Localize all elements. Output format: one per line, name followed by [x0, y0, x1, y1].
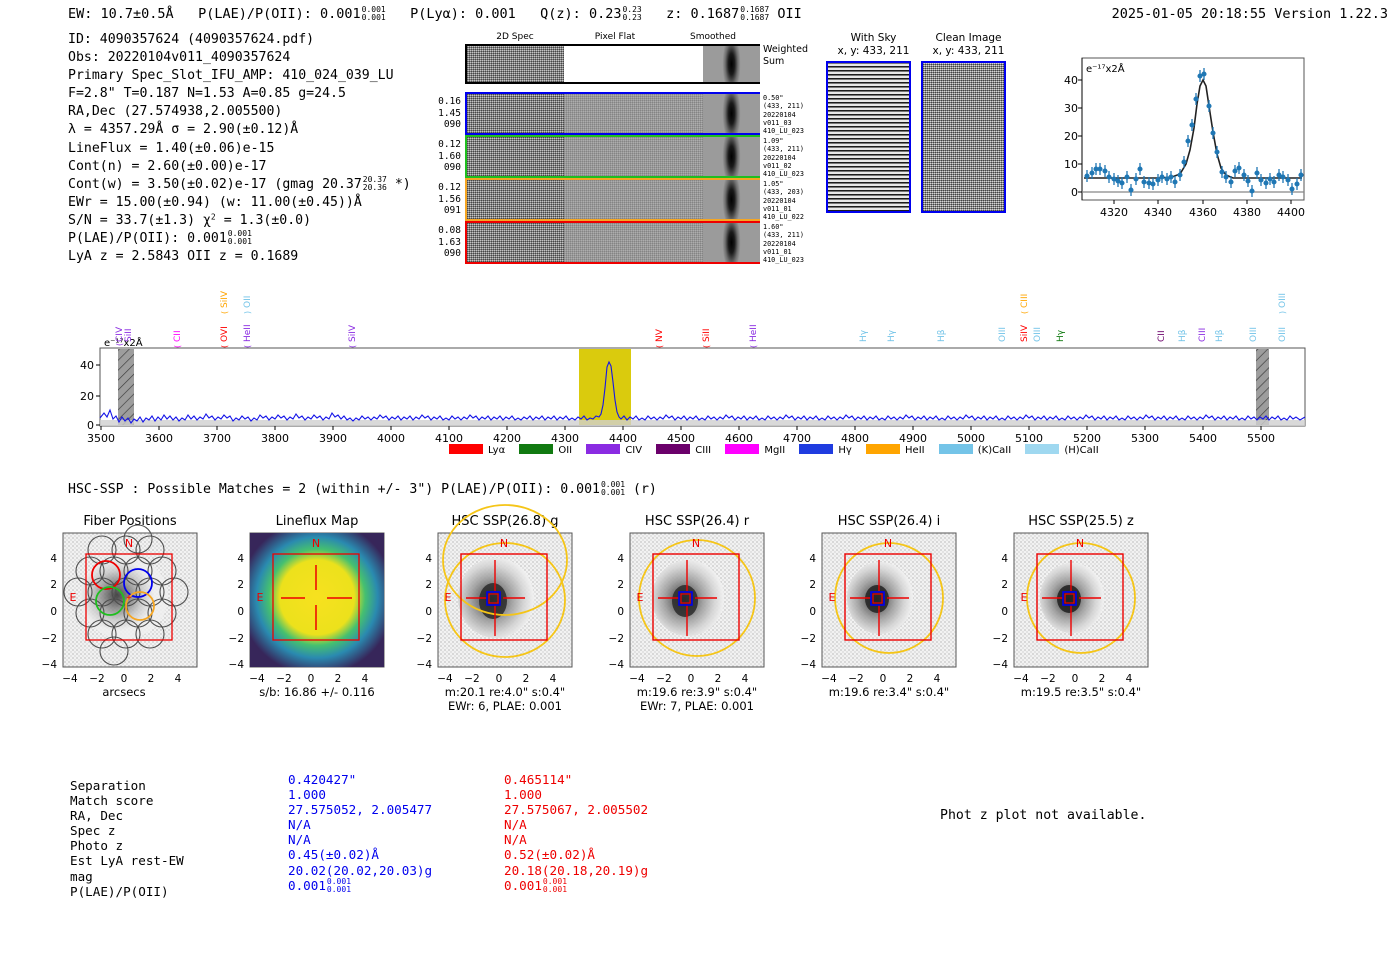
svg-text:E: E — [1021, 591, 1028, 604]
svg-text:m:19.6 re:3.4" s:0.4": m:19.6 re:3.4" s:0.4" — [829, 685, 949, 699]
svg-text:−2: −2 — [1040, 673, 1055, 685]
fiber-2dspec-image — [467, 94, 564, 133]
svg-text:E: E — [70, 591, 77, 604]
info-radec: RA,Dec (27.574938,2.005500) — [68, 103, 411, 121]
fiber-pixelflat-image — [564, 94, 703, 133]
svg-text:N: N — [500, 537, 508, 550]
svg-text:−4: −4 — [62, 673, 78, 685]
svg-text:0: 0 — [50, 606, 57, 618]
full-spectrum-plot: 0 20 40 e⁻¹⁷x2Å 35003600 37003800 390040… — [0, 270, 1400, 470]
legend-item-civ: CIV — [586, 444, 642, 456]
cutout-panels-svg: Fiber Positions N E + −4−2 — [0, 505, 1400, 720]
spec2d-fiber-row: 0.121.60090 1.09"(433, 211)20220104v011_… — [425, 135, 810, 178]
spec2d-fiber-row: 0.081.63090 1.60"(433, 211)20220104v011_… — [425, 221, 810, 264]
svg-text:N: N — [312, 537, 320, 550]
svg-text:OIII: OIII — [998, 327, 1008, 342]
cell-value: 1.000 — [504, 787, 648, 802]
info-obs: Obs: 20220104v011_4090357624 — [68, 49, 411, 67]
clean-image-pixels — [921, 61, 1006, 213]
fiber-right-metadata: 1.05"(433, 203)20220104v011_01410_LU_022 — [763, 180, 823, 221]
hsc-filter: (r) — [633, 482, 657, 497]
fiber-right-metadata: 1.09"(433, 211)20220104v011_02410_LU_023 — [763, 137, 823, 178]
svg-text:0: 0 — [496, 673, 503, 685]
detection-info-block: ID: 4090357624 (4090357624.pdf) Obs: 202… — [68, 31, 411, 266]
svg-text:): ) — [1278, 311, 1287, 314]
legend-label: MgII — [764, 445, 785, 456]
cell-value: N/A — [288, 832, 432, 847]
panel-hsc-g: HSC SSP(26.8) g N E −4−2 02 4 −4−2 02 4 — [417, 505, 572, 713]
svg-text:−2: −2 — [801, 633, 816, 645]
svg-text:4: 4 — [617, 553, 624, 565]
match-table-col-blue: 0.420427" 1.000 27.575052, 2.005477 N/A … — [288, 772, 432, 894]
legend-item-heii: HeII — [866, 444, 925, 456]
svg-text:−2: −2 — [993, 633, 1008, 645]
info-plae: P(LAE)/P(OII): 0.0010.0010.001 — [68, 230, 411, 248]
row-label: mag — [70, 869, 280, 884]
svg-text:0: 0 — [809, 606, 816, 618]
cell-value: 20.02(20.02,20.03)g — [288, 863, 432, 878]
fiber-smoothed-image — [703, 223, 760, 262]
svg-text:E: E — [637, 591, 644, 604]
svg-text:40: 40 — [1064, 74, 1078, 87]
info-lambda-sigma: λ = 4357.29Å σ = 2.90(±0.12)Å — [68, 121, 411, 139]
zoom-plot-svg: 0 10 20 30 40 e⁻¹⁷x2Å 4320 4340 4360 438… — [1040, 52, 1310, 242]
svg-text:4: 4 — [175, 673, 182, 685]
svg-text:SiIV: SiIV — [1020, 324, 1030, 342]
svg-text:0: 0 — [688, 673, 695, 685]
svg-text:0: 0 — [308, 673, 315, 685]
header-summary-line: EW: 10.7±0.5Å P(LAE)/P(OII): 0.0010.0010… — [68, 6, 802, 22]
legend-item-ciii: CIII — [656, 444, 711, 456]
svg-text:OIII: OIII — [1033, 327, 1043, 342]
svg-text:m:19.5 re:3.5" s:0.4": m:19.5 re:3.5" s:0.4" — [1021, 685, 1141, 699]
fiber-2dspec-image — [467, 223, 564, 262]
emission-line-zoom-plot: 0 10 20 30 40 e⁻¹⁷x2Å 4320 4340 4360 438… — [1040, 52, 1310, 242]
svg-text:m:19.6 re:3.9" s:0.4": m:19.6 re:3.9" s:0.4" — [637, 685, 757, 699]
legend-item-hcaii: (H)CaII — [1025, 444, 1098, 456]
svg-text:HeII: HeII — [749, 324, 759, 342]
svg-text:E: E — [829, 591, 836, 604]
svg-text:arcsecs: arcsecs — [102, 685, 145, 699]
row-label: Match score — [70, 793, 280, 808]
svg-text:−4: −4 — [229, 659, 245, 671]
svg-text:0: 0 — [1001, 606, 1008, 618]
svg-text:OII: OII — [243, 296, 253, 308]
fiber-left-values: 0.121.60090 — [425, 139, 461, 174]
svg-text:−4: −4 — [42, 659, 58, 671]
svg-text:Hβ: Hβ — [1215, 329, 1225, 342]
clean-image-title: Clean Image — [921, 32, 1016, 45]
svg-text:4: 4 — [1126, 673, 1133, 685]
panel-hsc-r: HSC SSP(26.4) r N E −4−2 02 4 −4−2 02 4 … — [609, 514, 764, 713]
info-primary-spec: Primary Spec_Slot_IFU_AMP: 410_024_039_L… — [68, 67, 411, 85]
svg-text:2: 2 — [809, 579, 816, 591]
svg-text:−4: −4 — [1013, 673, 1029, 685]
header-z-species: OII — [777, 6, 801, 22]
cell-value-plae: 0.0010.0010.001 — [288, 878, 432, 895]
fiber-right-metadata: 1.60"(433, 211)20220104v011_01410_LU_023 — [763, 223, 823, 264]
weighted-sum-2dspec-image — [467, 46, 564, 82]
svg-text:4: 4 — [934, 673, 941, 685]
svg-text:(: ( — [243, 345, 252, 348]
with-sky-title: With Sky — [826, 32, 921, 45]
legend-label: CIII — [695, 445, 711, 456]
svg-text:OIII: OIII — [1249, 327, 1259, 342]
svg-text:Hγ: Hγ — [887, 329, 897, 342]
svg-text:OIII: OIII — [1278, 293, 1288, 308]
fiber-smoothed-image — [703, 137, 760, 176]
svg-text:(: ( — [655, 345, 664, 348]
svg-text:EWr: 6, PLAE: 0.001: EWr: 6, PLAE: 0.001 — [448, 699, 562, 713]
info-ewr: EWr = 15.00(±0.94) (w: 11.00(±0.45))Å — [68, 194, 411, 212]
fiber-left-values: 0.081.63090 — [425, 225, 461, 260]
fiber-pixelflat-image — [564, 180, 703, 219]
svg-text:0: 0 — [1072, 673, 1079, 685]
cutout-panel-row: Fiber Positions N E + −4−2 — [0, 505, 1400, 720]
svg-text:m:20.1 re:4.0" s:0.4": m:20.1 re:4.0" s:0.4" — [445, 685, 565, 699]
svg-text:(: ( — [348, 345, 357, 348]
svg-text:4380: 4380 — [1233, 206, 1261, 219]
svg-text:3900: 3900 — [319, 432, 347, 445]
cell-value: 27.575052, 2.005477 — [288, 802, 432, 817]
svg-text:2: 2 — [1001, 579, 1008, 591]
svg-text:Hγ: Hγ — [859, 329, 869, 342]
svg-text:−4: −4 — [437, 673, 453, 685]
legend-label: OII — [558, 445, 572, 456]
legend-swatch — [449, 444, 483, 454]
svg-text:4400: 4400 — [1277, 206, 1305, 219]
cell-value: 20.18(20.18,20.19)g — [504, 863, 648, 878]
svg-text:EWr: 7, PLAE: 0.001: EWr: 7, PLAE: 0.001 — [640, 699, 754, 713]
svg-text:3700: 3700 — [203, 432, 231, 445]
clean-image-cutout: Clean Image x, y: 433, 211 — [921, 32, 1016, 213]
spec2d-fiber-row: 0.161.45090 0.50"(433, 211)20220104v011_… — [425, 92, 810, 135]
svg-text:10: 10 — [1064, 158, 1078, 171]
panel-fiber-positions: Fiber Positions N E + −4−2 — [42, 514, 197, 699]
svg-text:−4: −4 — [993, 659, 1009, 671]
legend-swatch — [586, 444, 620, 454]
svg-text:−2: −2 — [656, 673, 671, 685]
svg-text:−2: −2 — [42, 633, 57, 645]
svg-text:SiII: SiII — [124, 328, 134, 342]
svg-text:2: 2 — [50, 579, 57, 591]
header-z-range: 0.16870.1687 — [740, 6, 769, 22]
with-sky-image — [826, 61, 911, 213]
info-gmag-range: 20.3720.36 — [363, 176, 387, 192]
fiber-2dspec-image — [467, 137, 564, 176]
svg-text:−4: −4 — [417, 659, 433, 671]
fiber-2dspec-image — [467, 180, 564, 219]
legend-item-oii: OII — [519, 444, 572, 456]
svg-text:2: 2 — [425, 579, 432, 591]
legend-item-lya: Lyα — [449, 444, 505, 456]
fiber-left-values: 0.121.56091 — [425, 182, 461, 217]
svg-text:20: 20 — [1064, 130, 1078, 143]
svg-text:Hβ: Hβ — [937, 329, 947, 342]
fiber-cutout-strip — [465, 178, 760, 221]
svg-text:Hγ: Hγ — [1056, 329, 1066, 342]
svg-text:40: 40 — [80, 359, 94, 372]
svg-text:Fiber Positions: Fiber Positions — [83, 514, 176, 529]
hsc-match-text: HSC-SSP : Possible Matches = 2 (within +… — [68, 482, 600, 497]
cell-value-plae: 0.0010.0010.001 — [504, 878, 648, 895]
svg-text:3800: 3800 — [261, 432, 289, 445]
info-cont-w: Cont(w) = 3.50(±0.02)e-17 (gmag 20.3720.… — [68, 176, 411, 194]
svg-text:CII: CII — [173, 330, 183, 342]
legend-swatch — [656, 444, 690, 454]
svg-text:CIII: CIII — [1020, 294, 1030, 308]
panel-hsc-i: HSC SSP(26.4) i N E −4−2 02 4 −4−2 02 4 … — [801, 514, 956, 699]
info-id: ID: 4090357624 (4090357624.pdf) — [68, 31, 411, 49]
legend-swatch — [939, 444, 973, 454]
svg-text:5500: 5500 — [1247, 432, 1275, 445]
svg-text:0: 0 — [87, 419, 94, 432]
legend-label: (H)CaII — [1064, 445, 1098, 456]
cell-value: 0.52(±0.02)Å — [504, 847, 648, 862]
hsc-ssp-match-line: HSC-SSP : Possible Matches = 2 (within +… — [68, 481, 657, 497]
svg-text:0: 0 — [880, 673, 887, 685]
svg-text:4: 4 — [425, 553, 432, 565]
row-label: Separation — [70, 778, 280, 793]
svg-text:): ) — [243, 311, 252, 314]
svg-text:3600: 3600 — [145, 432, 173, 445]
legend-swatch — [519, 444, 553, 454]
clean-image-coords: x, y: 433, 211 — [921, 45, 1016, 58]
fiber-cutout-strip — [465, 221, 760, 264]
svg-text:OIII: OIII — [1278, 327, 1288, 342]
svg-text:(: ( — [1020, 311, 1029, 314]
with-sky-cutout: With Sky x, y: 433, 211 — [826, 32, 921, 213]
fiber-pixelflat-image — [564, 137, 703, 176]
svg-text:OVI: OVI — [220, 326, 230, 342]
row-label: P(LAE)/P(OII) — [70, 884, 280, 899]
legend-label: HeII — [905, 445, 925, 456]
svg-text:+: + — [126, 593, 132, 603]
svg-text:SiIV: SiIV — [348, 324, 358, 342]
header-z: z: 0.1687 — [666, 6, 739, 22]
legend-swatch — [725, 444, 759, 454]
spec2d-title-pixelflat: Pixel Flat — [565, 32, 665, 42]
legend-label: CIV — [625, 445, 642, 456]
svg-text:N: N — [692, 537, 700, 550]
plae-range: 0.0010.001 — [327, 878, 351, 894]
svg-text:−2: −2 — [609, 633, 624, 645]
svg-text:2: 2 — [237, 579, 244, 591]
weighted-sum-pixelflat-image — [564, 46, 703, 82]
svg-text:−2: −2 — [464, 673, 479, 685]
weighted-sum-smoothed-image — [703, 46, 760, 82]
row-label: Est LyA rest-EW — [70, 853, 280, 868]
svg-text:2: 2 — [335, 673, 342, 685]
svg-text:CIII: CIII — [1198, 328, 1208, 342]
panel-lineflux-map: Lineflux Map N E −4−2 02 4 −4−2 02 4 s/b… — [229, 514, 384, 699]
svg-text:0: 0 — [237, 606, 244, 618]
svg-text:E: E — [445, 591, 452, 604]
svg-text:SiII: SiII — [702, 328, 712, 342]
svg-text:4: 4 — [237, 553, 244, 565]
header-ew: EW: 10.7±0.5Å — [68, 6, 174, 22]
svg-text:(: ( — [220, 311, 229, 314]
spec2d-title-2dspec: 2D Spec — [465, 32, 565, 42]
svg-text:HSC SSP(26.4) r: HSC SSP(26.4) r — [645, 514, 750, 529]
svg-text:Lineflux Map: Lineflux Map — [276, 514, 359, 529]
header-qz: Q(z): 0.23 — [540, 6, 621, 22]
svg-text:2: 2 — [148, 673, 155, 685]
svg-text:4: 4 — [362, 673, 369, 685]
svg-text:4: 4 — [1001, 553, 1008, 565]
svg-text:0: 0 — [1071, 186, 1078, 199]
svg-text:3500: 3500 — [87, 432, 115, 445]
svg-text:4340: 4340 — [1144, 206, 1172, 219]
legend-label: Lyα — [488, 445, 505, 456]
info-params: F=2.8" T=0.187 N=1.53 A=0.85 g=24.5 — [68, 85, 411, 103]
fiber-pixelflat-image — [564, 223, 703, 262]
svg-text:−2: −2 — [276, 673, 291, 685]
svg-text:4000: 4000 — [377, 432, 405, 445]
legend-label: (K)CaII — [978, 445, 1011, 456]
svg-text:Hβ: Hβ — [1178, 329, 1188, 342]
svg-text:(: ( — [702, 345, 711, 348]
info-lineflux: LineFlux = 1.40(±0.06)e-15 — [68, 140, 411, 158]
panel-hsc-z: HSC SSP(25.5) z N E −4−2 02 4 −4−2 02 4 … — [993, 514, 1148, 699]
svg-text:−4: −4 — [629, 673, 645, 685]
row-label: Spec z — [70, 823, 280, 838]
header-plae-range: 0.0010.001 — [362, 6, 386, 22]
svg-text:2: 2 — [907, 673, 914, 685]
svg-text:−4: −4 — [609, 659, 625, 671]
svg-text:2: 2 — [523, 673, 530, 685]
spec2d-weighted-sum-label: Weighted Sum — [763, 44, 808, 67]
spec2d-fiber-row: 0.121.56091 1.05"(433, 203)20220104v011_… — [425, 178, 810, 221]
svg-text:HSC SSP(26.4) i: HSC SSP(26.4) i — [838, 514, 940, 529]
svg-text:−4: −4 — [249, 673, 265, 685]
cell-value: 0.45(±0.02)Å — [288, 847, 432, 862]
spectrum-legend: Lyα OII CIV CIII MgII Hγ HeII (K)CaII (H… — [449, 444, 1110, 456]
svg-text:4320: 4320 — [1100, 206, 1128, 219]
svg-text:CII: CII — [1157, 330, 1167, 342]
fiber-cutout-strip — [465, 92, 760, 135]
svg-text:HeII: HeII — [243, 324, 253, 342]
svg-text:4360: 4360 — [1189, 206, 1217, 219]
svg-text:−2: −2 — [848, 673, 863, 685]
cell-value: 0.420427" — [288, 772, 432, 787]
cell-value: N/A — [504, 817, 648, 832]
svg-text:20: 20 — [80, 390, 94, 403]
svg-text:2: 2 — [715, 673, 722, 685]
cell-value: 0.465114" — [504, 772, 648, 787]
fiber-smoothed-image — [703, 180, 760, 219]
fiber-smoothed-image — [703, 94, 760, 133]
with-sky-coords: x, y: 433, 211 — [826, 45, 921, 58]
info-snr-chi2: S/N = 33.7(±1.3) χ2 = 1.3(±0.0) — [68, 212, 411, 230]
svg-text:NV: NV — [655, 328, 665, 342]
spec2d-title-smoothed: Smoothed — [663, 32, 763, 42]
cell-value: N/A — [288, 817, 432, 832]
svg-text:N: N — [1076, 537, 1084, 550]
svg-text:2: 2 — [617, 579, 624, 591]
full-spectrum-svg: 0 20 40 e⁻¹⁷x2Å 35003600 37003800 390040… — [0, 270, 1400, 470]
match-table-col-red: 0.465114" 1.000 27.575067, 2.005502 N/A … — [504, 772, 648, 894]
svg-text:−2: −2 — [89, 673, 104, 685]
photz-not-available-text: Phot z plot not available. — [940, 808, 1146, 823]
svg-text:−4: −4 — [801, 659, 817, 671]
svg-text:0: 0 — [121, 673, 128, 685]
svg-text:0: 0 — [617, 606, 624, 618]
info-redshifts: LyA z = 2.5843 OII z = 0.1689 — [68, 248, 411, 266]
match-table-labels: Separation Match score RA, Dec Spec z Ph… — [70, 778, 280, 899]
legend-swatch — [866, 444, 900, 454]
legend-swatch — [799, 444, 833, 454]
legend-swatch — [1025, 444, 1059, 454]
legend-item-kcaii: (K)CaII — [939, 444, 1011, 456]
svg-text:s/b: 16.86 +/- 0.116: s/b: 16.86 +/- 0.116 — [259, 685, 375, 699]
row-label: Photo z — [70, 838, 280, 853]
cell-value: 1.000 — [288, 787, 432, 802]
legend-item-mgii: MgII — [725, 444, 785, 456]
svg-text:0: 0 — [425, 606, 432, 618]
svg-text:(: ( — [173, 345, 182, 348]
svg-text:e⁻¹⁷x2Å: e⁻¹⁷x2Å — [1086, 62, 1125, 75]
header-qz-range: 0.230.23 — [622, 6, 641, 22]
cell-value: 27.575067, 2.005502 — [504, 802, 648, 817]
header-plya: P(Lyα): 0.001 — [410, 6, 516, 22]
svg-text:2: 2 — [1099, 673, 1106, 685]
svg-text:4: 4 — [742, 673, 749, 685]
svg-text:5300: 5300 — [1131, 432, 1159, 445]
svg-text:(: ( — [220, 345, 229, 348]
hsc-plae-range: 0.0010.001 — [601, 481, 625, 497]
header-plae: P(LAE)/P(OII): 0.001 — [198, 6, 361, 22]
fiber-right-metadata: 0.50"(433, 211)20220104v011_03410_LU_023 — [763, 94, 823, 135]
svg-text:(: ( — [115, 343, 124, 346]
fiber-cutout-strip — [465, 135, 760, 178]
svg-text:SiIV: SiIV — [220, 290, 230, 308]
plae-range: 0.0010.001 — [543, 878, 567, 894]
info-cont-n: Cont(n) = 2.60(±0.00)e-17 — [68, 158, 411, 176]
info-plae-range: 0.0010.001 — [228, 230, 252, 246]
svg-text:−2: −2 — [417, 633, 432, 645]
svg-text:5400: 5400 — [1189, 432, 1217, 445]
legend-label: Hγ — [838, 445, 851, 456]
svg-text:−2: −2 — [229, 633, 244, 645]
cell-value: N/A — [504, 832, 648, 847]
svg-text:N: N — [884, 537, 892, 550]
svg-text:4: 4 — [809, 553, 816, 565]
legend-item-hgamma: Hγ — [799, 444, 851, 456]
svg-text:−4: −4 — [821, 673, 837, 685]
svg-text:4: 4 — [50, 553, 57, 565]
fiber-left-values: 0.161.45090 — [425, 96, 461, 131]
svg-text:4: 4 — [550, 673, 557, 685]
svg-text:30: 30 — [1064, 102, 1078, 115]
svg-text:(: ( — [749, 345, 758, 348]
header-timestamp: 2025-01-05 20:18:55 Version 1.22.3 — [1112, 6, 1388, 22]
spec2d-panel: 2D Spec Pixel Flat Smoothed Weighted Sum… — [425, 32, 810, 252]
svg-text:N: N — [125, 537, 133, 550]
spec2d-weighted-sum-row — [465, 44, 760, 84]
svg-text:HSC SSP(25.5) z: HSC SSP(25.5) z — [1028, 514, 1134, 529]
row-label: RA, Dec — [70, 808, 280, 823]
svg-text:E: E — [257, 591, 264, 604]
